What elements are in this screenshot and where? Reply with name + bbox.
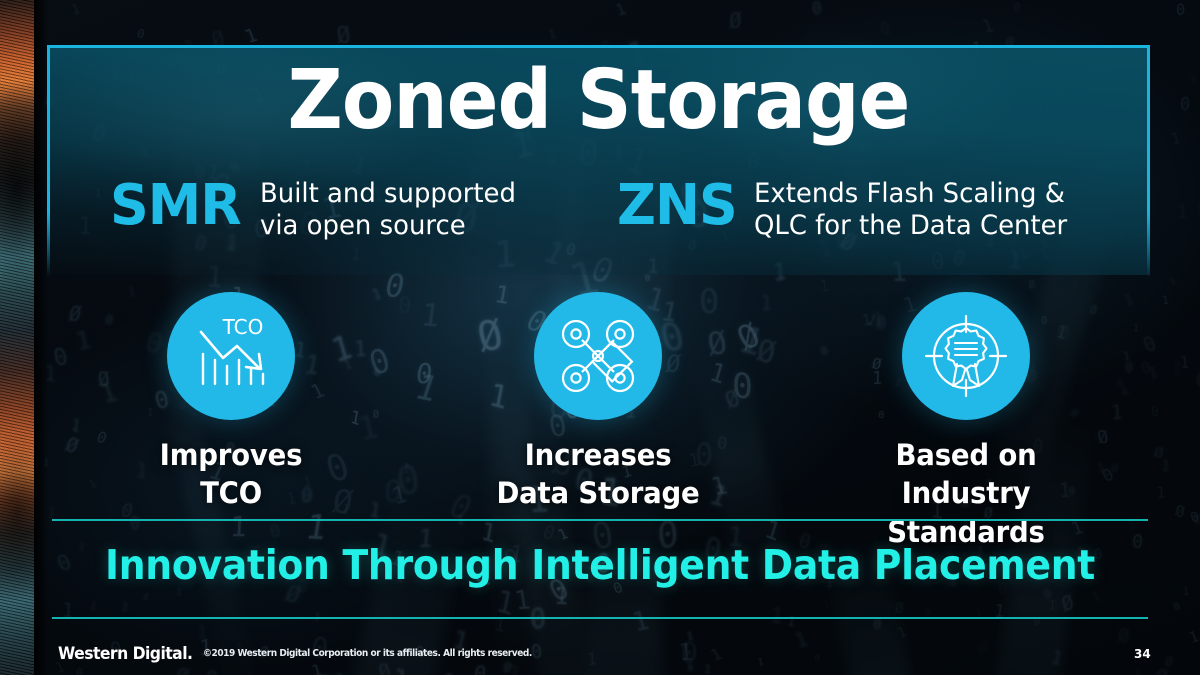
benefit-increases-data-storage: Increases Data Storage (448, 292, 748, 513)
feature-zns: ZNS Extends Flash Scaling & QLC for the … (617, 176, 1080, 242)
divider-line-top (52, 519, 1148, 521)
feature-zns-description-line2: QLC for the Data Center (754, 210, 1067, 242)
hero-border-top (47, 45, 1150, 48)
divider-line-bottom (52, 617, 1148, 619)
feature-zns-description: Extends Flash Scaling & QLC for the Data… (754, 178, 1067, 242)
page-title: Zoned Storage (86, 58, 1112, 144)
page-number: 34 (1134, 647, 1151, 661)
feature-smr: SMR Built and supported via open source (110, 176, 527, 242)
feature-smr-description-line1: Built and supported (260, 178, 516, 210)
hero-border-left (47, 45, 50, 277)
benefit-improves-tco: TCO Improves TCO (81, 292, 381, 513)
tagline: Innovation Through Intelligent Data Plac… (96, 541, 1104, 589)
feature-zns-description-line1: Extends Flash Scaling & (754, 178, 1067, 210)
benefit-label-industry-standards: Based on Industry Standards (824, 436, 1109, 551)
western-digital-logo: Western Digital. (58, 644, 192, 664)
feature-smr-description: Built and supported via open source (260, 178, 516, 242)
award-ribbon-target-icon (902, 292, 1030, 420)
copyright-notice: ©2019 Western Digital Corporation or its… (203, 648, 532, 659)
feature-zns-acronym: ZNS (617, 178, 737, 234)
benefit-label-improves-tco: Improves TCO (88, 436, 373, 513)
distributed-nodes-network-icon (534, 292, 662, 420)
benefit-label-increases-data-storage: Increases Data Storage (456, 436, 741, 513)
hero-border-right (1147, 45, 1150, 277)
benefit-industry-standards: Based on Industry Standards (816, 292, 1116, 551)
feature-smr-acronym: SMR (110, 178, 241, 234)
tco-icon-text: TCO (221, 315, 263, 339)
declining-tco-chart-icon: TCO (167, 292, 295, 420)
benefits-row: TCO Improves TCO (47, 292, 1150, 551)
slide-root: Ø101111ØØ11Ø0Ø1111Ø10111101ØØØØØ10001101… (0, 0, 1200, 675)
feature-smr-description-line2: via open source (260, 210, 516, 242)
left-edge-shadow (34, 0, 48, 675)
left-edge-artwork (0, 0, 34, 675)
